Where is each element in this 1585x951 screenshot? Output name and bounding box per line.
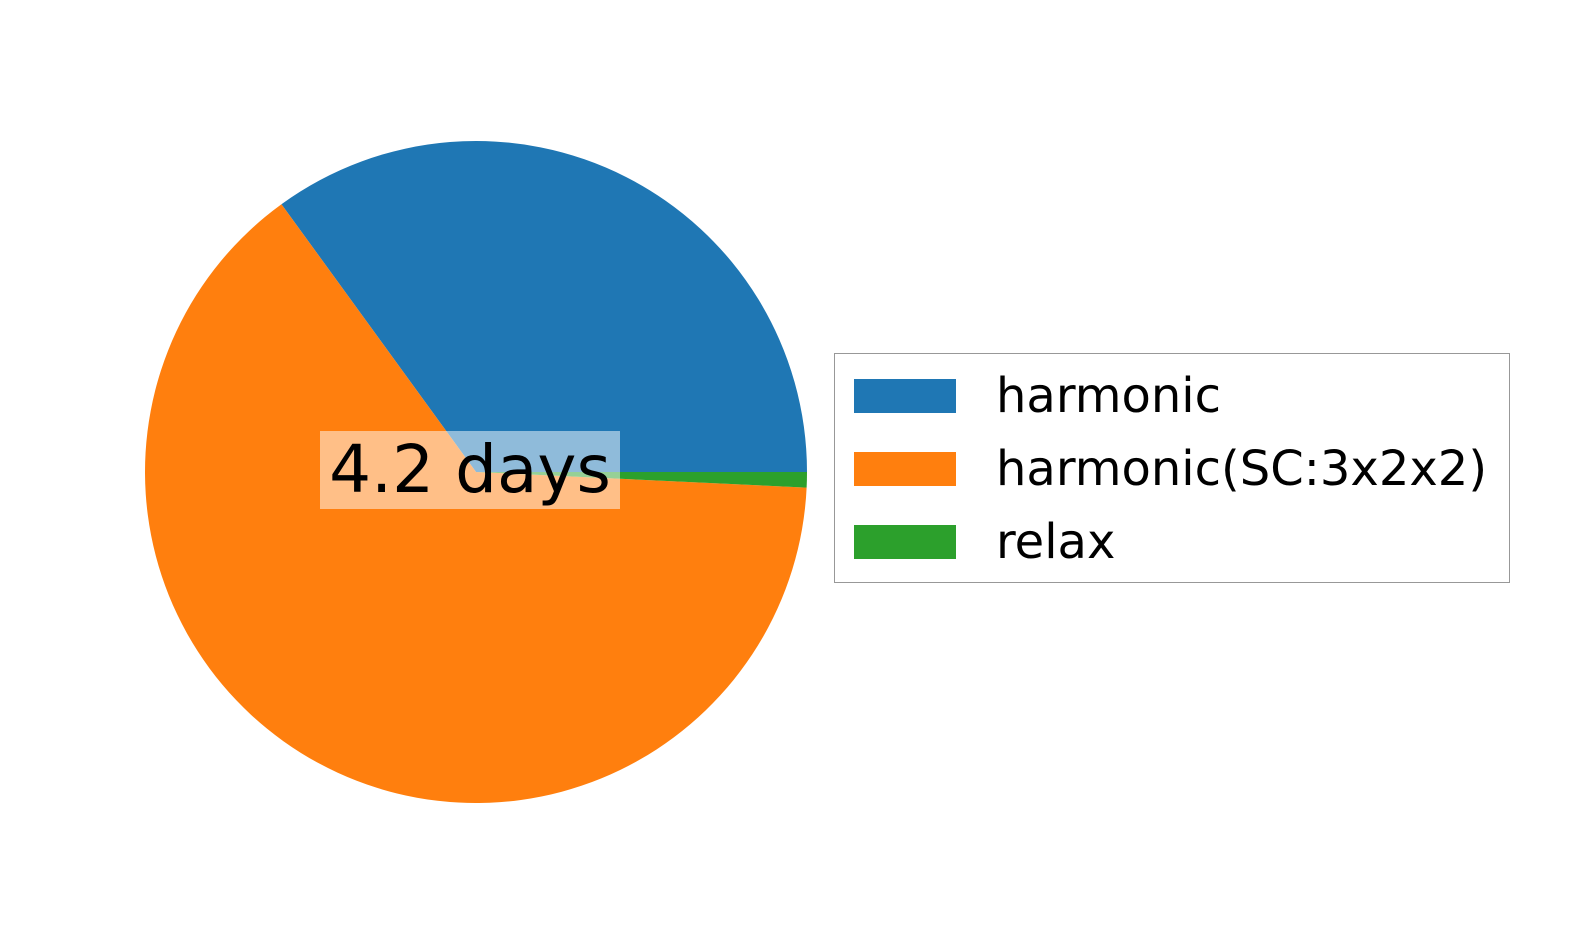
legend-label-relax: relax	[996, 518, 1115, 566]
legend-label-harmonic-sc: harmonic(SC:3x2x2)	[996, 445, 1487, 493]
legend-swatch-harmonic-sc	[854, 452, 956, 486]
legend-swatch-harmonic	[854, 379, 956, 413]
legend-item-harmonic[interactable]: harmonic	[835, 360, 1509, 432]
legend-swatch-relax	[854, 525, 956, 559]
legend-label-harmonic: harmonic	[996, 372, 1221, 420]
figure-canvas: 4.2 days harmonic harmonic(SC:3x2x2) rel…	[0, 0, 1585, 951]
chart-legend: harmonic harmonic(SC:3x2x2) relax	[834, 353, 1510, 583]
legend-item-harmonic-sc[interactable]: harmonic(SC:3x2x2)	[835, 433, 1509, 505]
legend-item-relax[interactable]: relax	[835, 506, 1509, 578]
